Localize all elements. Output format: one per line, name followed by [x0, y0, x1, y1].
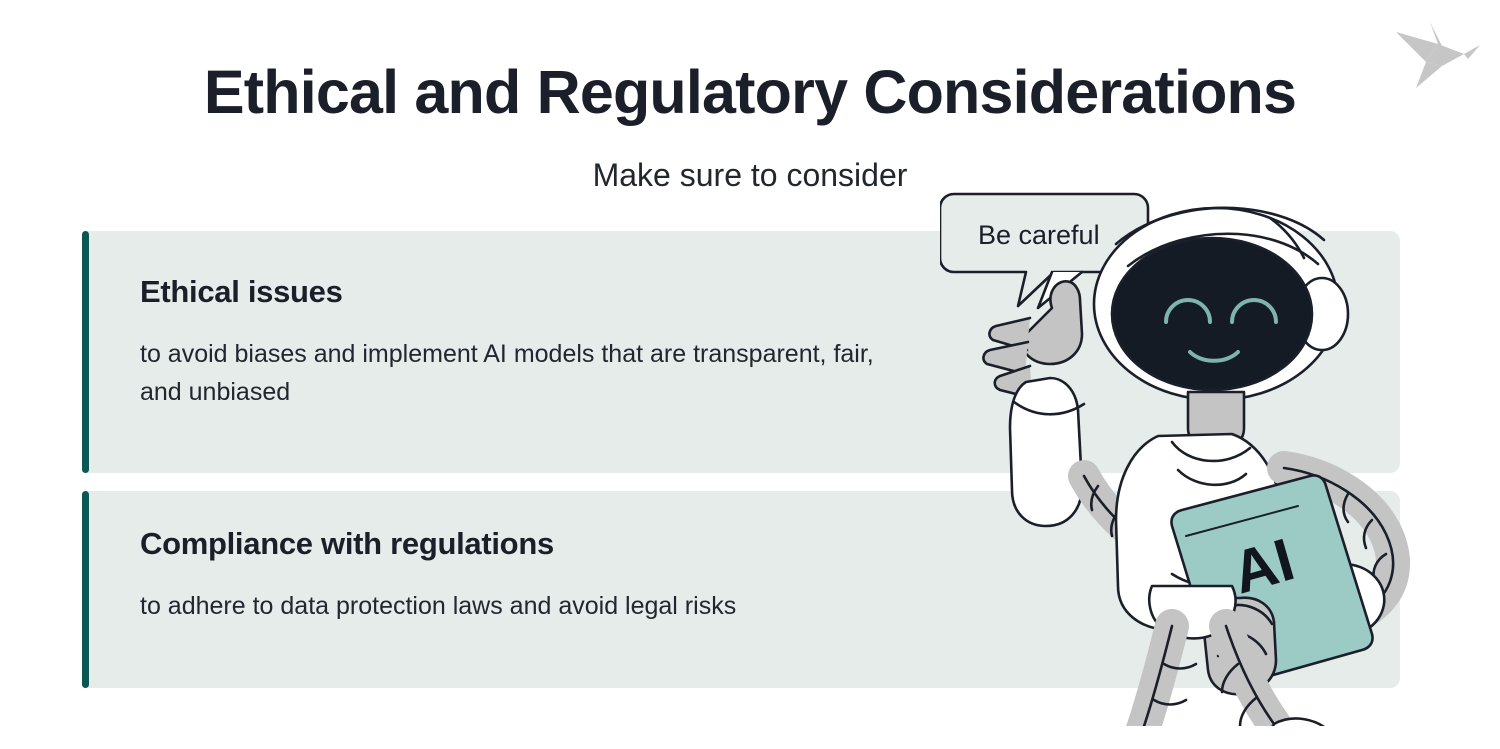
speech-bubble-label: Be careful: [978, 220, 1100, 250]
robot-left-leg: [1062, 626, 1196, 726]
robot-head: [1094, 208, 1348, 400]
card-description: to adhere to data protection laws and av…: [140, 587, 900, 625]
card-accent-bar: [82, 231, 89, 473]
card-accent-bar: [82, 491, 89, 688]
slide-canvas: Ethical and Regulatory Considerations Ma…: [0, 0, 1500, 749]
page-title: Ethical and Regulatory Considerations: [0, 62, 1500, 123]
card-description: to avoid biases and implement AI models …: [140, 335, 900, 411]
robot-mascot-illustration: AI: [940, 186, 1460, 726]
